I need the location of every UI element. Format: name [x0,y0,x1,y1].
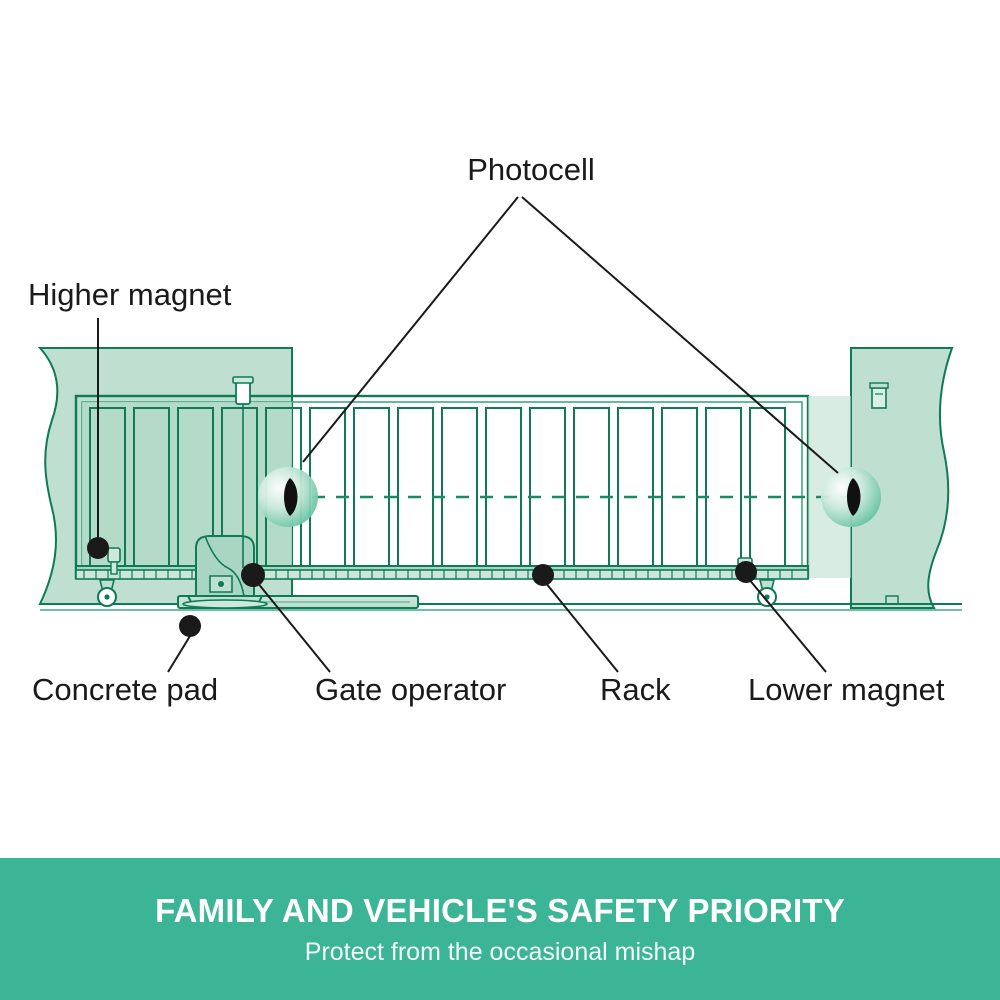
marker-gate-operator [241,563,265,587]
marker-lower-magnet [735,561,757,583]
promo-banner: FAMILY AND VEHICLE'S SAFETY PRIORITY Pro… [0,858,1000,1000]
label-higher-magnet: Higher magnet [28,277,232,312]
banner-title: FAMILY AND VEHICLE'S SAFETY PRIORITY [155,892,845,930]
marker-higher-magnet [87,537,109,559]
leader-rack [545,582,618,672]
leader-lower-magnet [748,578,826,672]
banner-subtitle: Protect from the occasional mishap [305,938,695,967]
label-gate-operator: Gate operator [315,672,506,707]
diagram-area: Photocell Higher magnet Concrete pad Gat… [0,0,1000,858]
roller-left [98,580,116,606]
pillar-device-icon [870,383,888,408]
page-root: Photocell Higher magnet Concrete pad Gat… [0,0,1000,1000]
leader-photocell-right [522,197,838,473]
photocell-left [258,467,318,527]
label-lower-magnet: Lower magnet [748,672,945,707]
label-rack: Rack [600,672,671,707]
leader-concrete-pad [168,636,190,672]
marker-rack [532,564,554,586]
label-photocell: Photocell [467,152,595,187]
photocell-right [821,467,881,527]
gate-diagram: Photocell Higher magnet Concrete pad Gat… [0,0,1000,858]
rack-bar [76,570,808,579]
gate-panel [76,396,851,578]
marker-concrete-pad [179,615,201,637]
label-concrete-pad: Concrete pad [32,672,218,707]
